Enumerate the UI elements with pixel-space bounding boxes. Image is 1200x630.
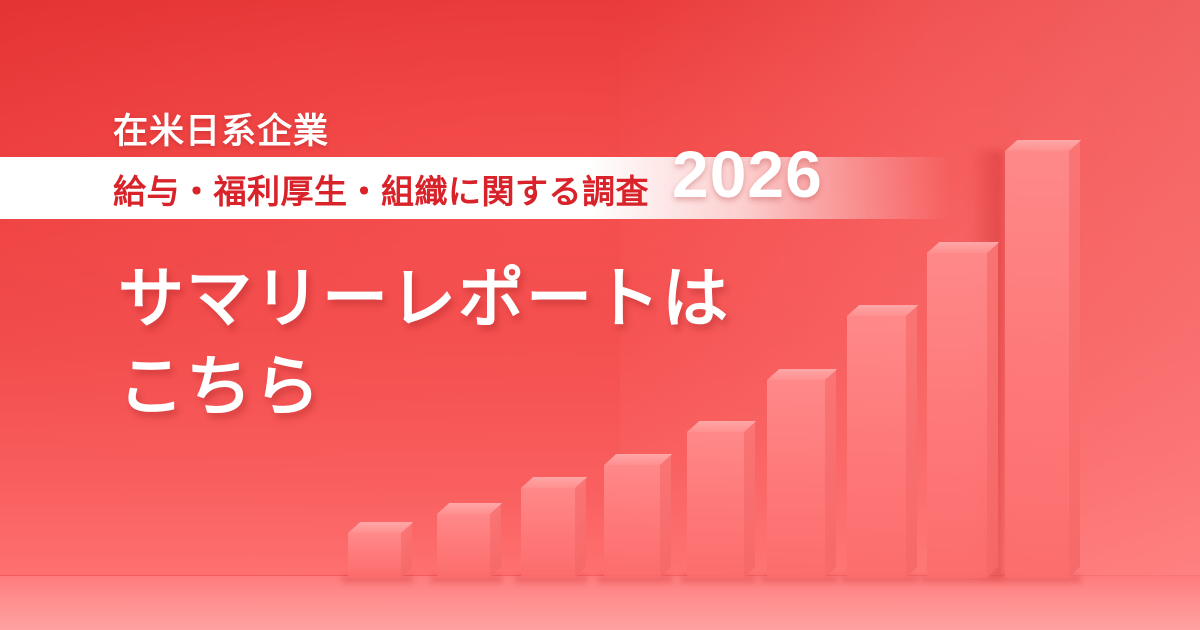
bar-front-face	[521, 488, 575, 578]
bar-front-face	[348, 533, 401, 578]
chart-bar	[604, 465, 660, 578]
chart-bar	[1005, 151, 1069, 578]
chart-bar	[521, 488, 575, 578]
bar-side-face	[575, 477, 586, 578]
bar-side-face	[1069, 140, 1080, 578]
bar-side-face	[660, 454, 671, 578]
banner-year: 2026	[672, 141, 823, 207]
bar-front-face	[927, 253, 987, 578]
chart-bar	[927, 253, 987, 578]
bar-front-face	[687, 432, 744, 578]
bar-top-face	[687, 421, 756, 432]
chart-bar	[687, 432, 744, 578]
bar-side-face	[490, 503, 501, 578]
summary-report-banner: 在米日系企業 給与・福利厚生・組織に関する調査 2026 サマリーレポートは こ…	[0, 0, 1200, 630]
bar-front-face	[1005, 151, 1069, 578]
bar-side-face	[906, 305, 917, 578]
chart-bar	[847, 316, 906, 578]
bar-front-face	[604, 465, 660, 578]
bar-side-face	[744, 421, 755, 578]
chart-bar	[348, 533, 401, 578]
chart-bar	[767, 380, 825, 578]
banner-subtitle: 給与・福利厚生・組織に関する調査	[113, 165, 649, 213]
bar-side-face	[987, 242, 998, 578]
bar-top-face	[847, 305, 918, 316]
chart-bar	[437, 514, 490, 578]
banner-kicker: 在米日系企業	[113, 103, 329, 154]
bar-top-face	[767, 369, 837, 380]
banner-headline: サマリーレポートは こちら	[118, 255, 730, 431]
bar-top-face	[927, 242, 999, 253]
bar-front-face	[767, 380, 825, 578]
bar-front-face	[847, 316, 906, 578]
bar-top-face	[1005, 140, 1081, 151]
bar-front-face	[437, 514, 490, 578]
bar-side-face	[825, 369, 836, 578]
